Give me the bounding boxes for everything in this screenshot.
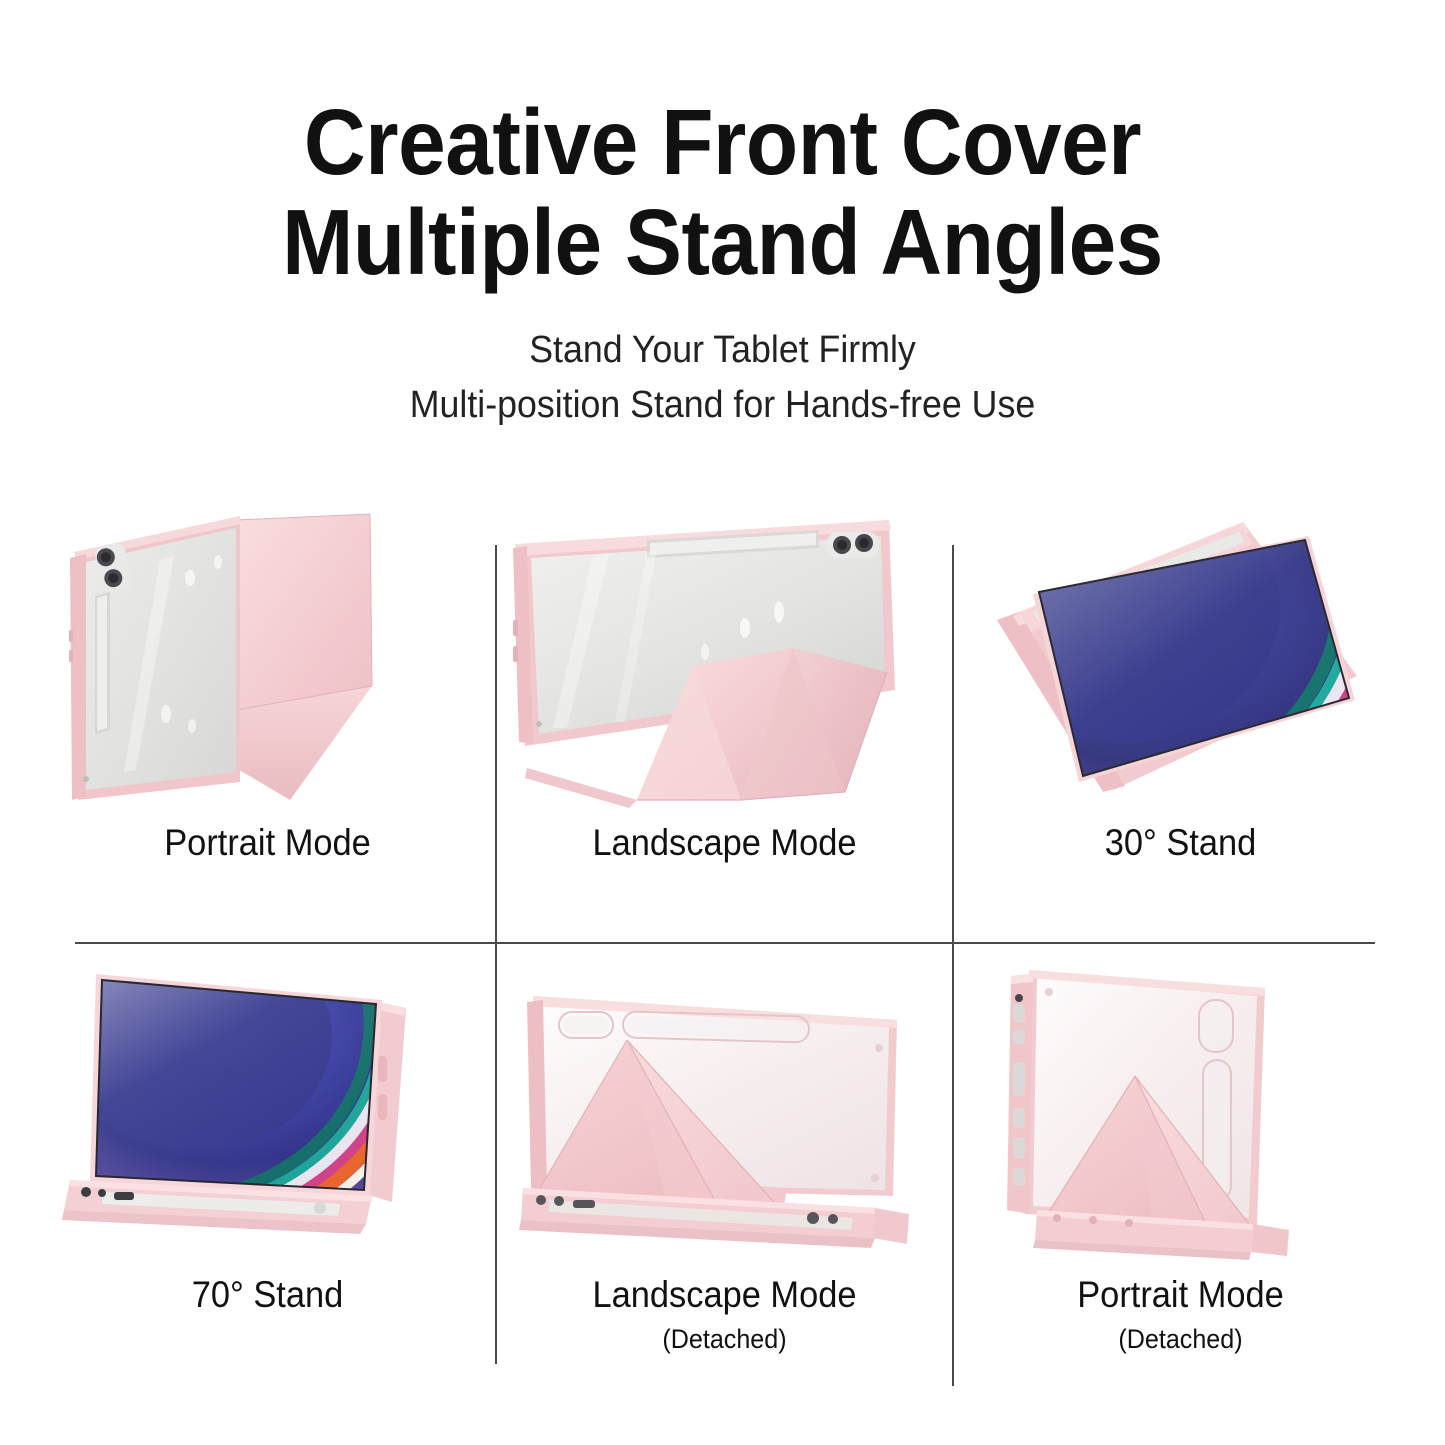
- title-line-1: Creative Front Cover: [304, 90, 1141, 194]
- product-feature-page: Creative Front Cover Multiple Stand Angl…: [0, 0, 1445, 1445]
- product-image-portrait-detached: [953, 952, 1408, 1282]
- product-image-landscape-attached: [497, 500, 952, 830]
- feature-cell-70-stand: 70° Stand: [40, 952, 495, 1392]
- tablet-in-case: [69, 516, 240, 800]
- case-spine-left: [1007, 974, 1033, 1214]
- cell-subcaption: (Detached): [969, 1324, 1392, 1355]
- feature-cell-portrait-mode: Portrait Mode: [40, 500, 495, 940]
- cell-caption: Landscape Mode: [513, 1274, 936, 1316]
- feature-cell-landscape-mode: Landscape Mode: [497, 500, 952, 940]
- product-image-stand-30: [953, 500, 1408, 830]
- feature-cell-30-stand: 30° Stand: [953, 500, 1408, 940]
- product-image-landscape-detached: [497, 952, 952, 1282]
- cell-caption: 30° Stand: [969, 822, 1392, 864]
- page-subtitle: Stand Your Tablet Firmly Multi-position …: [43, 293, 1401, 433]
- product-image-portrait-attached: [40, 500, 495, 830]
- cell-caption: Landscape Mode: [513, 822, 936, 864]
- feature-grid: Portrait Mode: [0, 500, 1445, 1445]
- product-image-stand-70: [40, 952, 495, 1282]
- cell-caption: 70° Stand: [56, 1274, 479, 1316]
- title-line-2: Multiple Stand Angles: [58, 192, 1387, 292]
- header: Creative Front Cover Multiple Stand Angl…: [0, 0, 1445, 433]
- subtitle-line-2: Multi-position Stand for Hands-free Use: [43, 378, 1401, 433]
- cell-caption: Portrait Mode: [969, 1274, 1392, 1316]
- subtitle-line-1: Stand Your Tablet Firmly: [529, 329, 916, 371]
- case-fold-flap: [236, 514, 372, 800]
- feature-cell-portrait-detached: Portrait Mode (Detached): [953, 952, 1408, 1392]
- page-title: Creative Front Cover Multiple Stand Angl…: [58, 0, 1387, 293]
- cell-subcaption: (Detached): [513, 1324, 936, 1355]
- camera-module-icon: [827, 532, 879, 558]
- feature-cell-landscape-detached: Landscape Mode (Detached): [497, 952, 952, 1392]
- cell-caption: Portrait Mode: [56, 822, 479, 864]
